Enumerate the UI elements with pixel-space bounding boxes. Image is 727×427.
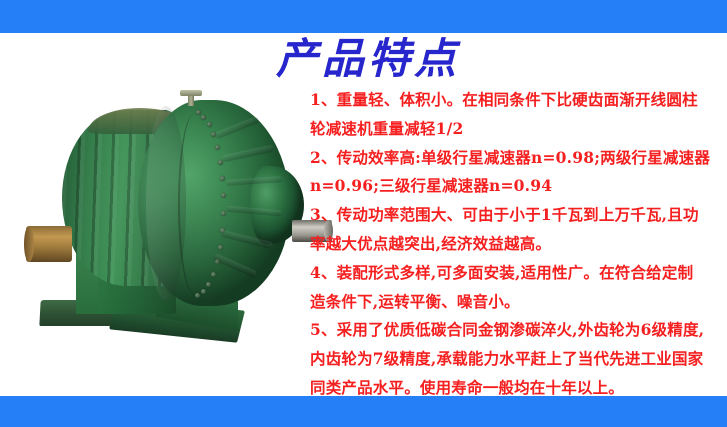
gearbox-bolt — [215, 145, 220, 150]
gearbox-bolt — [206, 282, 211, 287]
product-photo — [18, 58, 314, 368]
feature-list: 1、重量轻、体积小。在相同条件下比硬齿面渐开线圆柱轮减速机重量减轻1/22、传动… — [310, 86, 716, 403]
gearbox-bolt — [195, 293, 200, 298]
feature-line: n=0.96;三级行星减速器n=0.94 — [310, 172, 716, 201]
feature-line: 1、重量轻、体积小。在相同条件下比硬齿面渐开线圆柱 — [310, 86, 716, 115]
gearbox-bolt — [207, 122, 212, 127]
page-title: 产品特点 — [276, 33, 486, 85]
feature-line: 2、传动效率高:单级行星减速器n=0.98;两级行星减速器 — [310, 144, 716, 173]
top-blue-band — [0, 0, 727, 33]
feature-line: 5、采用了优质低碳合同金钢渗碳淬火,外齿轮为6级精度, — [310, 316, 716, 345]
gearbox-bolt — [201, 115, 206, 120]
gearbox-input-shaft-end — [24, 226, 34, 262]
feature-line: 内齿轮为7级精度,承载能力水平赶上了当代先进工业国家 — [310, 345, 716, 374]
feature-line: 同类产品水平。使用寿命一般均在十年以上。 — [310, 374, 716, 403]
gearbox-breather-cap — [180, 90, 202, 96]
gearbox-bolt — [211, 272, 216, 277]
product-features-banner: 产品特点 1、重量轻、体积小。在相同条件下比硬齿面渐开线圆柱轮减速机重量减轻1/… — [0, 0, 727, 427]
feature-line: 率越大优点越突出,经济效益越高。 — [310, 230, 716, 259]
feature-line: 轮减速机重量减轻1/2 — [310, 115, 716, 144]
gearbox-housing-flange — [178, 114, 210, 294]
feature-line: 4、装配形式多样,可多面安装,适用性广。在符合给定制 — [310, 259, 716, 288]
gearbox-bolt — [201, 289, 206, 294]
feature-line: 3、传动功率范围大、可由于小于1千瓦到上万千瓦,且功 — [310, 201, 716, 230]
gearbox-bolt — [218, 245, 223, 250]
feature-line: 造条件下,运转平衡、噪音小。 — [310, 288, 716, 317]
